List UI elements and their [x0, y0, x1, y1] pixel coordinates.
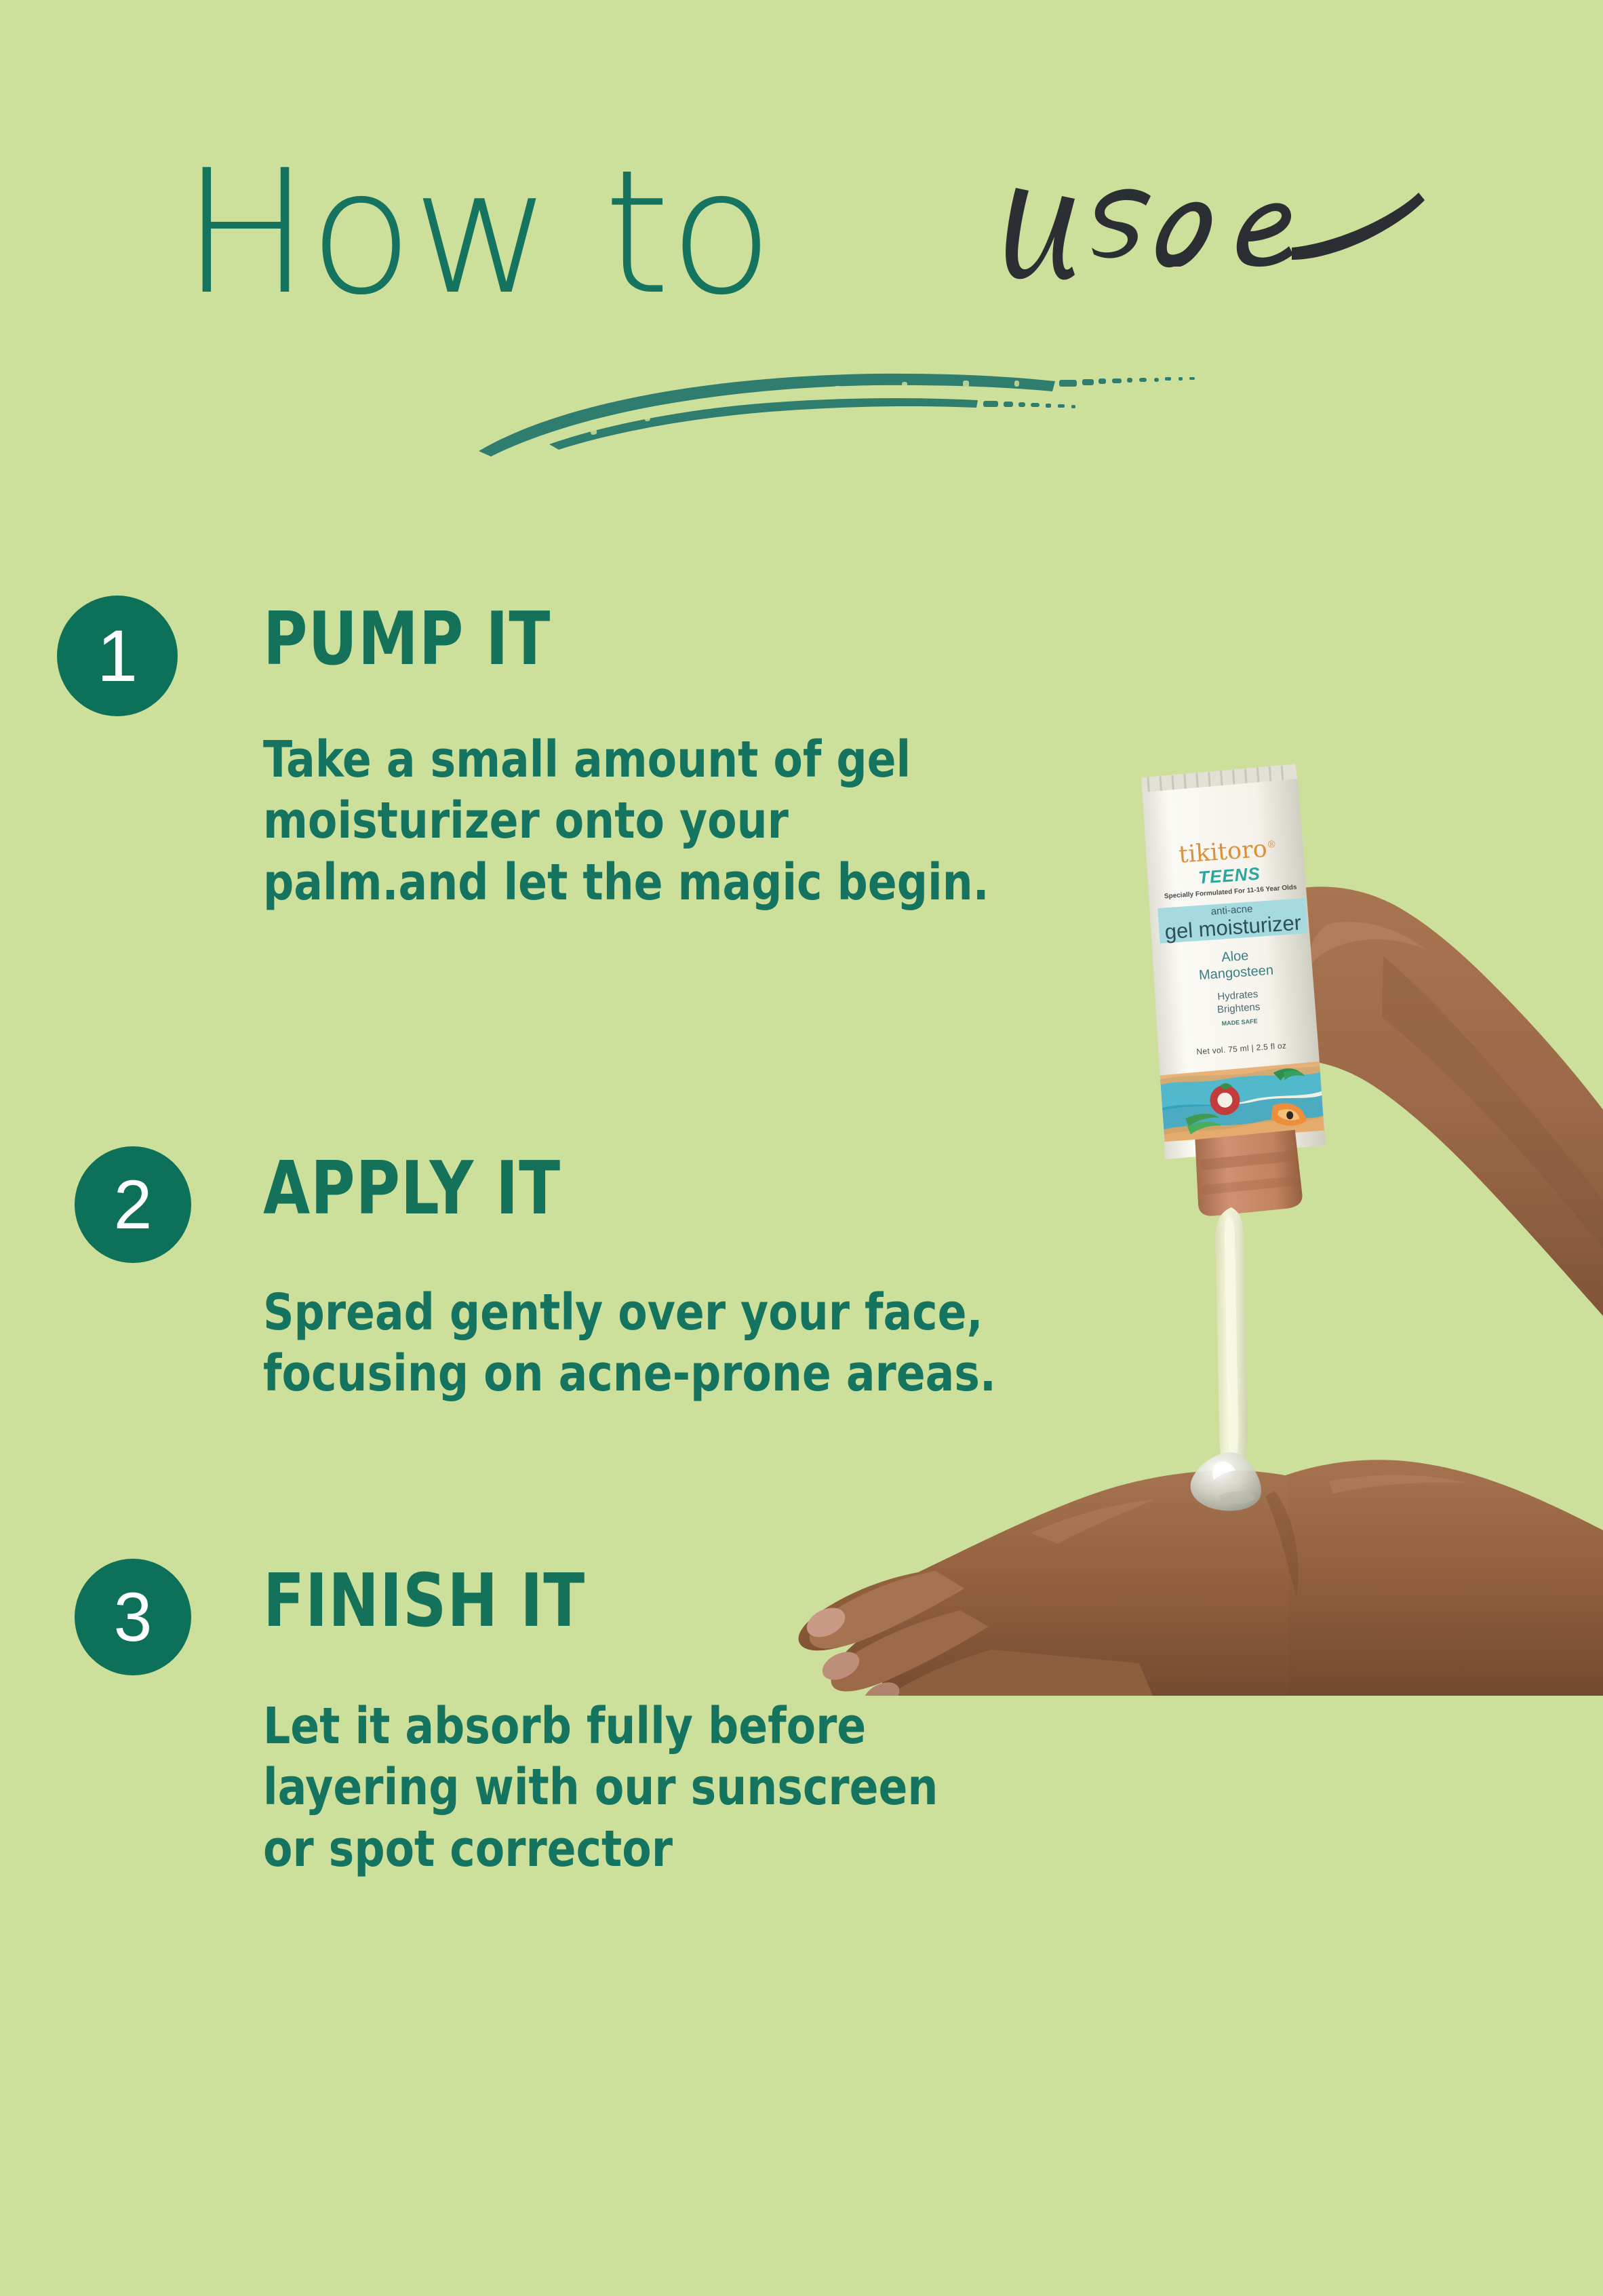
tube-label-band: [1157, 898, 1307, 943]
product-volume: Net vol. 75 ml | 2.5 fl oz: [1170, 1039, 1313, 1059]
step-heading-3: FINISH IT: [263, 1559, 585, 1643]
page-title-how-to: How to: [182, 148, 772, 319]
product-ingredient-1: Aloe: [1164, 944, 1307, 970]
product-brand-sub: TEENS: [1157, 860, 1301, 891]
product-benefit-1: Hydrates: [1166, 985, 1309, 1007]
step-body-3: Let it absorb fully before layering with…: [263, 1696, 972, 1880]
hand-holding-tube-arm: [1276, 887, 1603, 1316]
gel-stream: [1215, 1207, 1248, 1466]
step-heading-1: PUMP IT: [263, 597, 551, 682]
product-tagline: Specially Formulated For 11-16 Year Olds: [1160, 883, 1302, 901]
page-title-use-script: [973, 153, 1461, 322]
brush-underline-swoosh-icon: [468, 343, 1241, 465]
step-heading-2: APPLY IT: [263, 1146, 561, 1231]
product-brand-name: tikitoro®: [1155, 833, 1299, 870]
how-to-use-poster: How to: [0, 0, 1603, 2296]
product-tube-label: tikitoro® TEENS Specially Formulated For…: [1151, 774, 1315, 1102]
step-number-badge-1: 1: [57, 596, 178, 716]
poster-header: How to: [0, 0, 1603, 515]
product-ingredient-2: Mangosteen: [1165, 960, 1308, 986]
made-safe-certification-icon: MADE SAFE: [1210, 1017, 1269, 1028]
trademark-symbol: ®: [1267, 839, 1277, 851]
product-benefit-2: Brightens: [1167, 998, 1310, 1019]
step-number-badge-3: 3: [75, 1559, 191, 1675]
brand-text: tikitoro: [1178, 836, 1268, 869]
step-number-badge-2: 2: [75, 1146, 191, 1263]
gel-blob: [1191, 1452, 1261, 1511]
